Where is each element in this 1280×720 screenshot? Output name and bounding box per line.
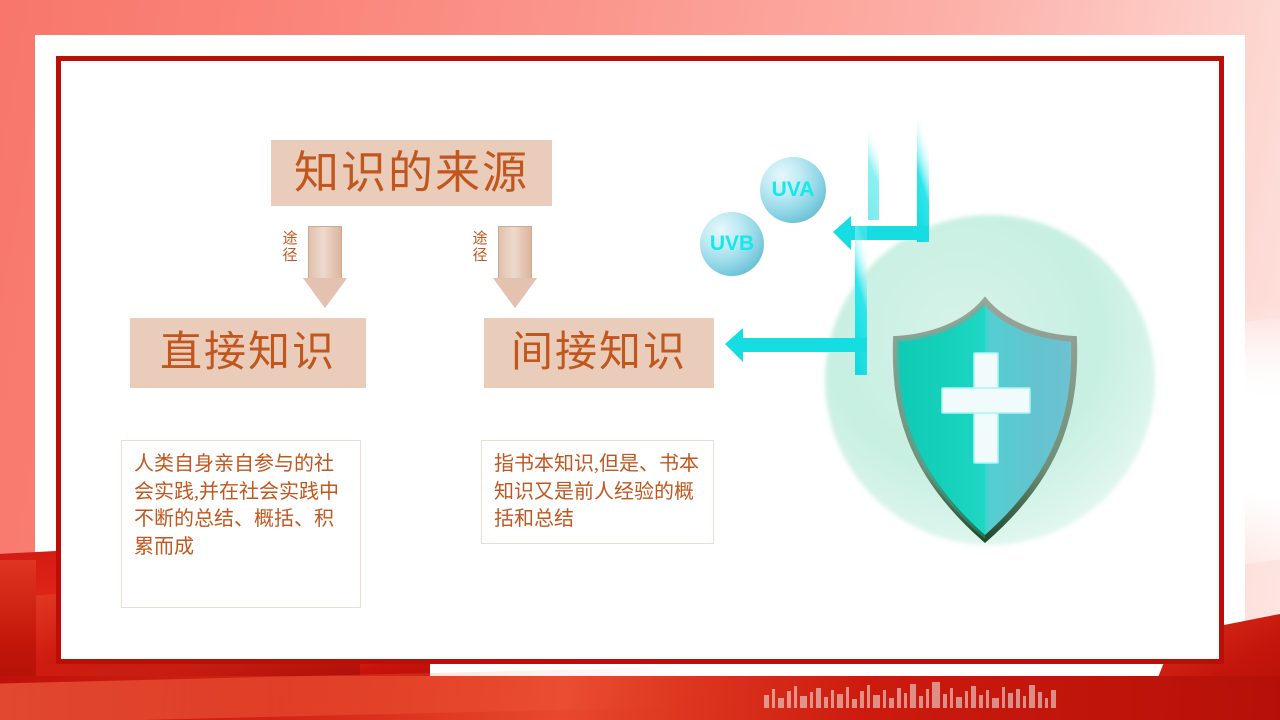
heading-text: 间接知识	[511, 332, 687, 374]
arrow-head	[493, 278, 537, 308]
arrow-label-left: 途径	[279, 231, 301, 266]
arrow-head	[303, 278, 347, 308]
note-direct-knowledge: 人类自身亲自参与的社会实践,并在社会实践中不断的总结、概括、积累而成	[121, 440, 361, 608]
down-arrow-icon-right	[493, 226, 537, 308]
uva-label: UVA	[772, 178, 815, 202]
heading-text: 直接知识	[160, 332, 336, 374]
uvb-label: UVB	[710, 232, 754, 256]
page-title-text: 知识的来源	[294, 151, 529, 196]
arrow-label-right: 途径	[469, 231, 491, 266]
down-arrow-icon-left	[303, 226, 347, 308]
heading-direct-knowledge: 直接知识	[130, 318, 366, 388]
arrow-shaft	[308, 226, 342, 278]
slide-canvas: 知识的来源 途径 途径 直接知识 间接知识 人类自身亲自参与的社会实践,并在社会…	[0, 0, 1280, 720]
skyline-silhouette	[760, 678, 1060, 708]
page-title: 知识的来源	[271, 140, 552, 206]
uva-sphere: UVA	[760, 157, 826, 223]
shield-icon	[870, 295, 1100, 545]
arrow-shaft	[498, 226, 532, 278]
uvb-sphere: UVB	[700, 212, 764, 276]
uv-shield-illustration: UVA UVB	[665, 110, 1135, 580]
